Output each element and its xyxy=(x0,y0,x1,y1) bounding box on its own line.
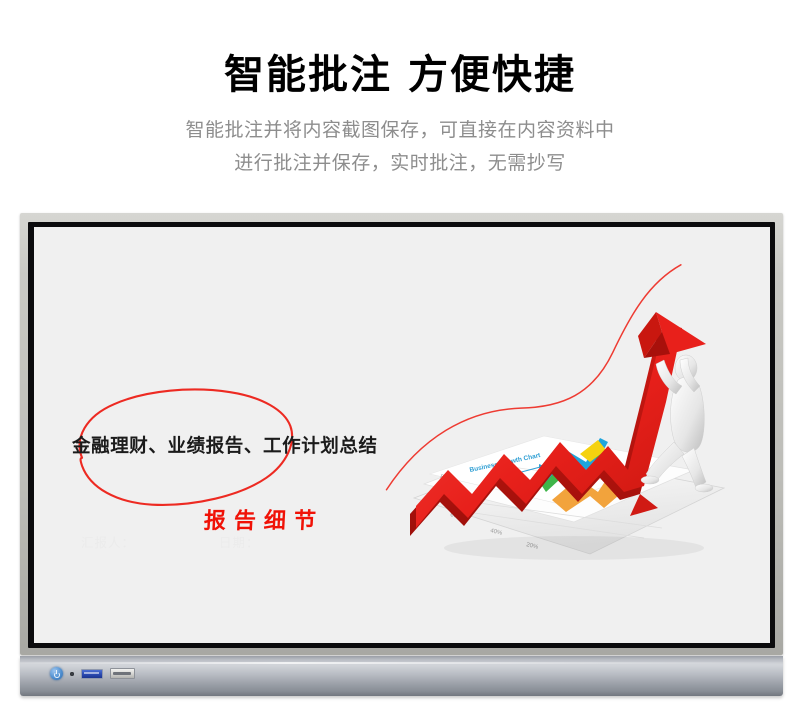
display-screen[interactable]: 金融理财、业绩报告、工作计划总结 报告细节 汇报人： 日期： xyxy=(34,227,770,643)
svg-text:40%: 40% xyxy=(490,528,504,537)
power-button[interactable] xyxy=(50,667,63,680)
growth-arrow-graphic: 80% 60% 40% 20% Business Growth Chart xyxy=(394,302,734,572)
page-subtitle-line-1: 智能批注并将内容截图保存，可直接在内容资料中 xyxy=(0,114,800,147)
page-subtitle-line-2: 进行批注并保存，实时批注，无需抄写 xyxy=(0,147,800,180)
page-title: 智能批注 方便快捷 xyxy=(0,52,800,98)
display-base-bar xyxy=(20,656,783,696)
hdmi-port[interactable] xyxy=(110,668,135,679)
display-bezel: 金融理财、业绩报告、工作计划总结 报告细节 汇报人： 日期： xyxy=(20,213,783,655)
page-header: 智能批注 方便快捷 智能批注并将内容截图保存，可直接在内容资料中 进行批注并保存… xyxy=(0,0,800,181)
power-icon xyxy=(54,671,60,677)
page-subtitle: 智能批注并将内容截图保存，可直接在内容资料中 进行批注并保存，实时批注，无需抄写 xyxy=(0,114,800,181)
watermark-presenter-label: 汇报人： xyxy=(81,532,135,551)
watermark-date-label: 日期： xyxy=(219,532,260,551)
display-inner-frame: 金融理财、业绩报告、工作计划总结 报告细节 汇报人： 日期： xyxy=(28,222,775,648)
device-controls xyxy=(50,667,135,680)
ir-sensor-icon xyxy=(70,672,74,676)
base-bar-sheen xyxy=(20,662,783,664)
whiteboard-display: 金融理财、业绩报告、工作计划总结 报告细节 汇报人： 日期： xyxy=(20,213,783,718)
usb-port[interactable] xyxy=(81,669,103,679)
handwritten-note: 报告细节 xyxy=(203,503,325,535)
screen-content-text: 金融理财、业绩报告、工作计划总结 xyxy=(72,432,378,458)
